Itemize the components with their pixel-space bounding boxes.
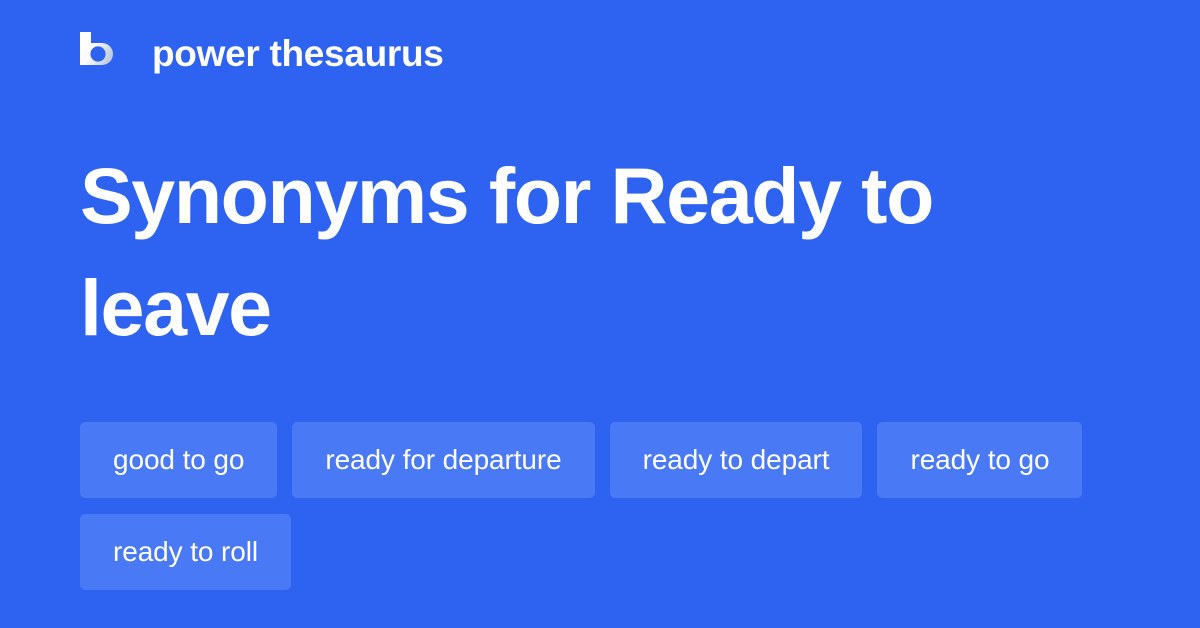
synonyms-share-card: power thesaurus Synonyms for Ready to le… [0,0,1200,628]
synonym-tag[interactable]: ready for departure [292,422,594,498]
synonym-tag-list: good to go ready for departure ready to … [80,422,1120,590]
brand-name: power thesaurus [152,32,444,76]
power-thesaurus-logo-icon [80,32,124,76]
brand-header[interactable]: power thesaurus [80,30,444,78]
page-title: Synonyms for Ready to leave [80,140,1040,364]
synonym-tag[interactable]: ready to go [877,422,1082,498]
synonym-tag[interactable]: good to go [80,422,277,498]
synonym-tag[interactable]: ready to depart [610,422,863,498]
synonym-tag[interactable]: ready to roll [80,514,291,590]
